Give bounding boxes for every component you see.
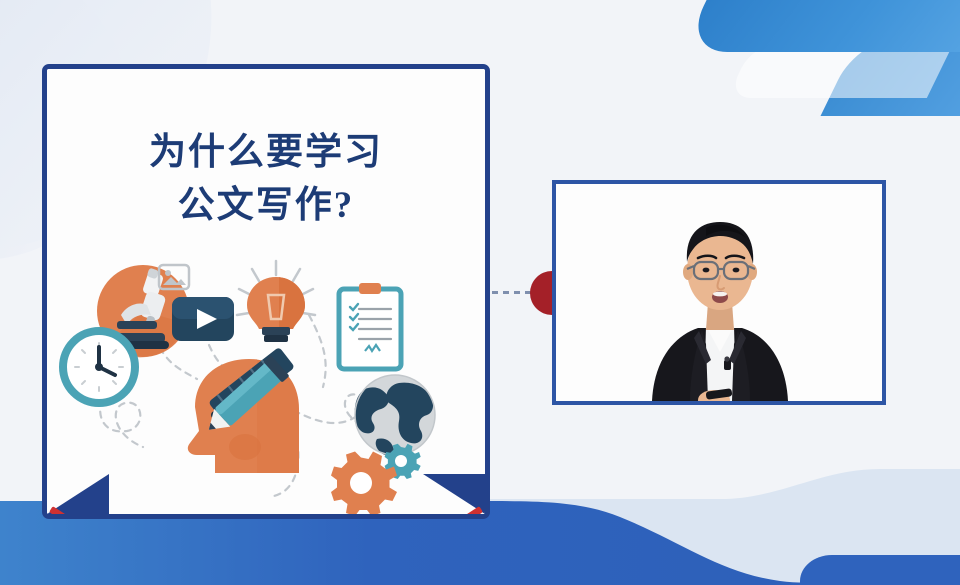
top-right-band-highlight (727, 44, 953, 98)
presenter-figure (556, 184, 882, 401)
top-right-band-lower (820, 36, 960, 116)
clipboard-icon (339, 283, 401, 369)
video-play-icon (172, 297, 234, 341)
slide-title-line1: 为什么要学习 (149, 132, 383, 173)
slide-title-line2: 公文写作? (47, 180, 485, 233)
lightbulb-icon (237, 261, 315, 342)
presenter-video-panel[interactable] (552, 180, 886, 405)
top-right-band-upper (681, 0, 960, 52)
video-frame: 为什么要学习 公文写作? (0, 0, 960, 585)
learning-concept-illustration (47, 259, 485, 517)
globe-icon (354, 375, 435, 456)
top-right-band-mid (725, 0, 960, 52)
slide-corner-fold-right (423, 474, 485, 514)
head-profile-icon (188, 347, 299, 473)
presentation-slide: 为什么要学习 公文写作? (42, 64, 490, 519)
clock-icon (63, 331, 135, 403)
top-right-blue-swoosh (620, 0, 960, 180)
slide-title: 为什么要学习 公文写作? (47, 127, 485, 232)
gear-icon-large (331, 452, 397, 517)
slide-corner-fold-left (47, 474, 109, 514)
